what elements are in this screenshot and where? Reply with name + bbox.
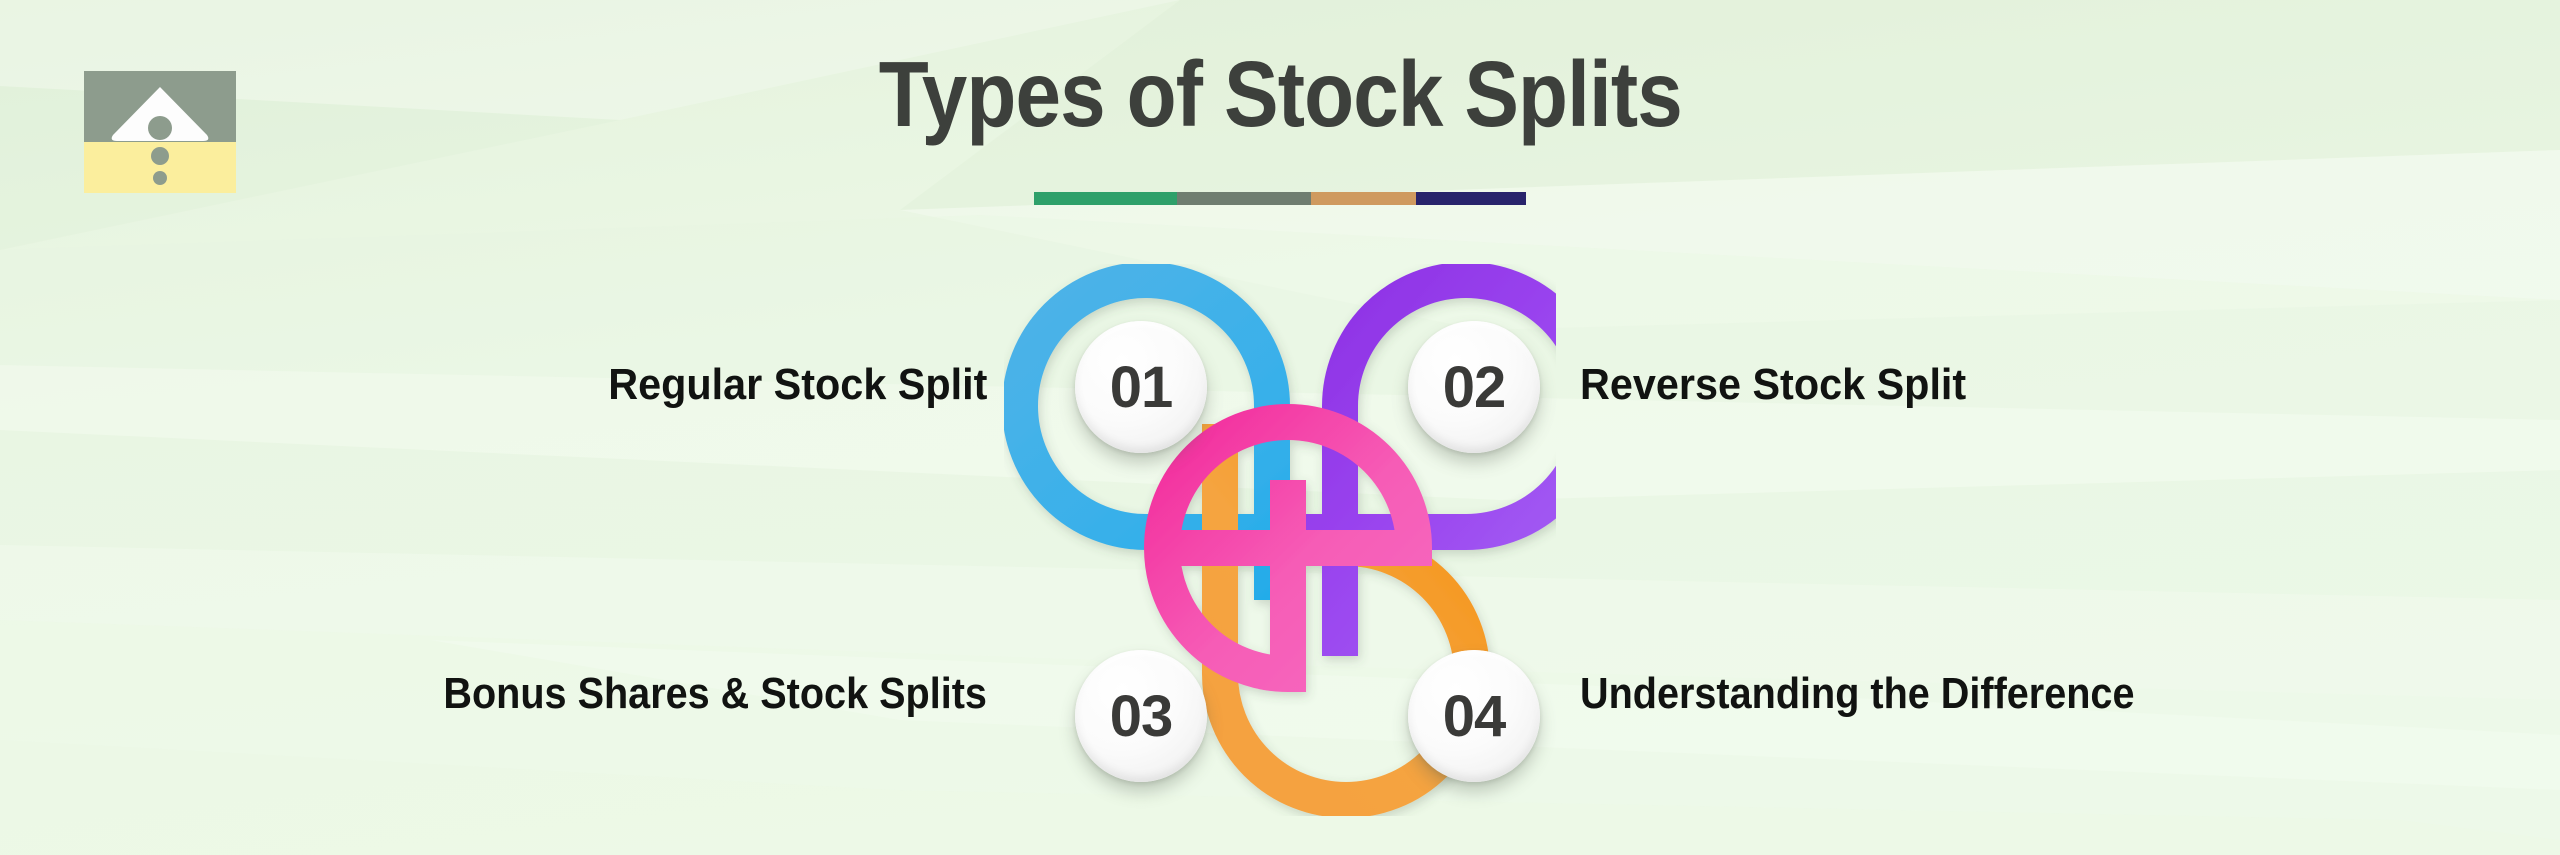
logo-dot-3 xyxy=(153,171,167,185)
title-underline-rule xyxy=(1034,192,1526,205)
step-badge-04[interactable]: 04 xyxy=(1408,650,1540,782)
step-number-03: 03 xyxy=(1110,683,1173,750)
rule-segment-1 xyxy=(1034,192,1177,205)
logo-dot-2 xyxy=(151,147,169,165)
step-badge-03[interactable]: 03 xyxy=(1075,650,1207,782)
step-label-04: Understanding the Difference xyxy=(1580,671,2134,717)
step-number-04: 04 xyxy=(1443,683,1506,750)
step-number-02: 02 xyxy=(1443,354,1506,421)
step-badge-02[interactable]: 02 xyxy=(1408,321,1540,453)
page-title-text: Types of Stock Splits xyxy=(878,48,1681,141)
step-label-02: Reverse Stock Split xyxy=(1580,362,1966,408)
step-number-01: 01 xyxy=(1110,354,1173,421)
step-label-01: Regular Stock Split xyxy=(608,362,987,408)
rule-segment-3 xyxy=(1311,192,1416,205)
step-label-03: Bonus Shares & Stock Splits xyxy=(443,671,987,717)
step-badge-01[interactable]: 01 xyxy=(1075,321,1207,453)
page-title: Types of Stock Splits xyxy=(0,48,2560,141)
rule-segment-2 xyxy=(1177,192,1311,205)
rule-segment-4 xyxy=(1416,192,1526,205)
